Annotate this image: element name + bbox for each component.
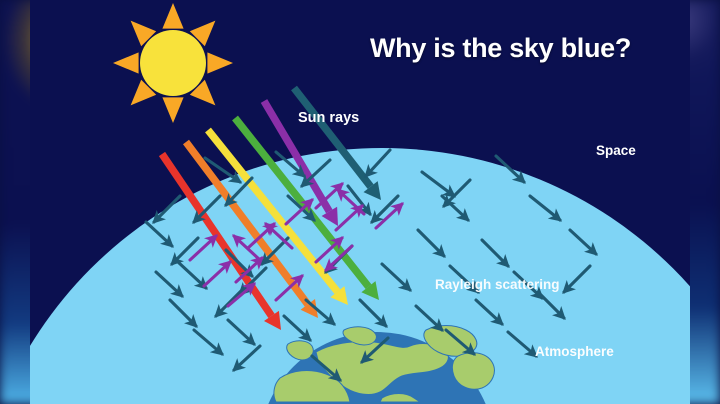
label-sun-rays: Sun rays bbox=[298, 110, 359, 126]
illustration-canvas: Why is the sky blue? Sun rays Space Rayl… bbox=[0, 0, 720, 404]
page-title: Why is the sky blue? bbox=[370, 33, 631, 64]
label-rayleigh-scattering: Rayleigh scattering bbox=[435, 277, 560, 292]
label-atmosphere: Atmosphere bbox=[535, 344, 614, 359]
sun-core bbox=[140, 30, 206, 96]
sun bbox=[113, 3, 233, 123]
sky-illustration: Why is the sky blue? Sun rays Space Rayl… bbox=[30, 0, 690, 404]
label-space: Space bbox=[596, 143, 636, 158]
